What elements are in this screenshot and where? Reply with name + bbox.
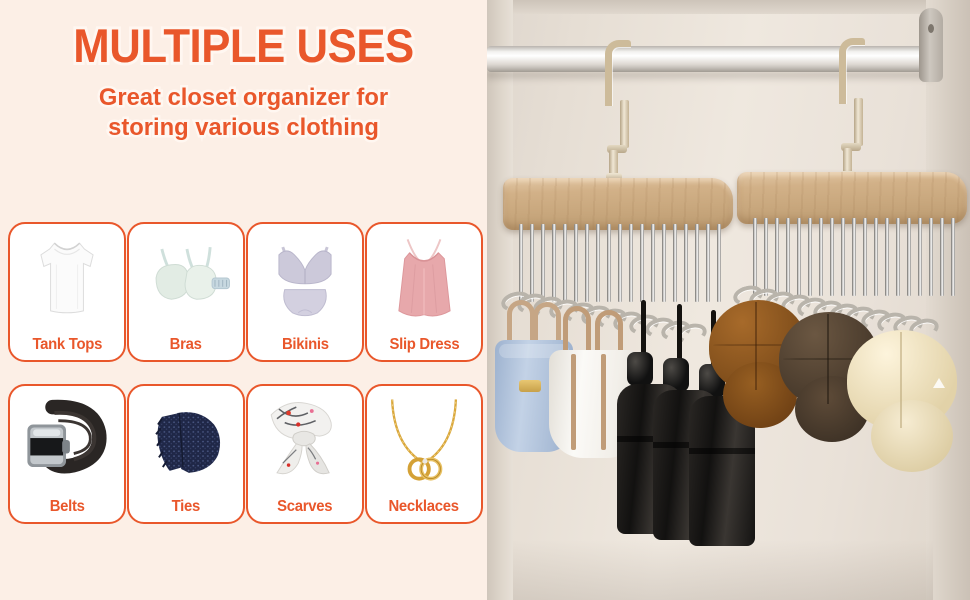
- card-label: Ties: [172, 498, 200, 516]
- cap-brim: [871, 400, 953, 472]
- subtitle-line-2: storing various clothing: [7, 113, 479, 143]
- rod-wall-bracket: [919, 8, 943, 82]
- bikini-icon: [248, 228, 362, 328]
- card-label: Belts: [50, 498, 85, 516]
- umbrella-shaft: [641, 300, 646, 358]
- tank-top-icon: [10, 228, 124, 328]
- necklace-icon: [367, 390, 481, 490]
- hook-stem: [854, 98, 863, 146]
- use-case-card-belts[interactable]: Belts: [8, 384, 126, 524]
- slip-dress-icon: [367, 228, 481, 328]
- infographic-root: MULTIPLE USES Great closet organizer for…: [0, 0, 970, 600]
- cap-seam: [755, 302, 757, 390]
- use-case-card-slip-dress[interactable]: Slip Dress: [365, 222, 483, 362]
- card-label: Scarves: [277, 498, 332, 516]
- ceiling: [487, 0, 970, 14]
- umbrella-band: [689, 448, 755, 454]
- bag-strap: [601, 354, 606, 450]
- necktie-icon: [129, 390, 243, 490]
- use-case-card-scarves[interactable]: Scarves: [246, 384, 364, 524]
- wood-grain: [503, 178, 733, 230]
- use-case-grid: Tank Tops Bras: [8, 222, 483, 524]
- subtitle-line-1: Great closet organizer for: [7, 83, 479, 113]
- bra-icon: [129, 228, 243, 328]
- card-label: Necklaces: [389, 498, 459, 516]
- use-case-card-tank-tops[interactable]: Tank Tops: [8, 222, 126, 362]
- belt-icon: [10, 390, 124, 490]
- metal-rod-array: [519, 224, 721, 302]
- card-label: Slip Dress: [389, 336, 459, 354]
- card-label: Bikinis: [282, 336, 329, 354]
- scarf-icon: [248, 390, 362, 490]
- hook-stem: [620, 100, 629, 148]
- wooden-hanger-bar: [503, 178, 733, 230]
- card-label: Tank Tops: [32, 336, 102, 354]
- bag-clasp-icon: [519, 380, 541, 392]
- wooden-hanger-bar: [737, 172, 967, 224]
- floor-shadow: [513, 540, 933, 600]
- bag-handle: [563, 306, 591, 350]
- info-panel: MULTIPLE USES Great closet organizer for…: [0, 0, 487, 600]
- page-subtitle: Great closet organizer for storing vario…: [7, 83, 479, 142]
- header-block: MULTIPLE USES Great closet organizer for…: [0, 0, 487, 143]
- metal-rod: [951, 218, 955, 296]
- card-label: Bras: [170, 336, 202, 354]
- use-case-card-necklaces[interactable]: Necklaces: [365, 384, 483, 524]
- umbrella-handle: [627, 352, 653, 386]
- umbrella-shaft: [677, 304, 682, 362]
- closet-rod-shadow: [487, 72, 933, 83]
- use-case-card-bras[interactable]: Bras: [127, 222, 245, 362]
- metal-rod: [717, 224, 721, 302]
- bag-handle: [507, 300, 535, 344]
- bag-handle: [595, 310, 623, 354]
- closet-rod: [487, 46, 933, 72]
- wood-grain: [737, 172, 967, 224]
- metal-rod-array: [753, 218, 955, 296]
- use-case-card-bikinis[interactable]: Bikinis: [246, 222, 364, 362]
- use-case-card-ties[interactable]: Ties: [127, 384, 245, 524]
- cap-seam: [900, 332, 902, 428]
- wall-right-side: [926, 0, 970, 600]
- hook-icon: [839, 38, 865, 104]
- page-title: MULTIPLE USES: [17, 22, 470, 70]
- hook-icon: [605, 40, 631, 106]
- bag-strap: [571, 354, 576, 450]
- product-photo: [487, 0, 970, 600]
